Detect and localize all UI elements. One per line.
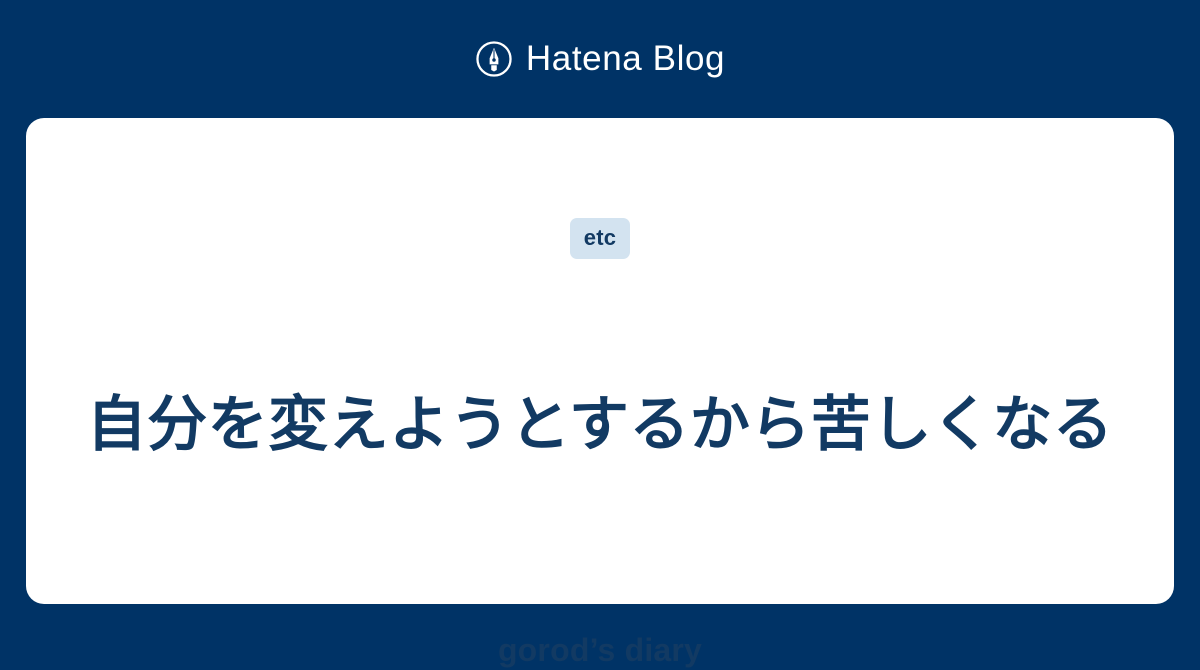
category-badge[interactable]: etc — [570, 218, 630, 259]
brand-name: Hatena Blog — [526, 40, 725, 78]
hatena-pen-nib-icon — [475, 40, 513, 78]
entry-card-inner: etc 自分を変えようとするから苦しくなる gorod’s diary — [26, 118, 1174, 604]
category-badge-row: etc — [26, 218, 1174, 259]
og-image-root: Hatena Blog etc 自分を変えようとするから苦しくなる gorod’… — [0, 0, 1200, 630]
entry-title: 自分を変えようとするから苦しくなる — [26, 386, 1174, 464]
entry-card: etc 自分を変えようとするから苦しくなる gorod’s diary — [26, 118, 1174, 604]
brand-header: Hatena Blog — [0, 0, 1200, 118]
blog-title: gorod’s diary — [26, 630, 1174, 670]
